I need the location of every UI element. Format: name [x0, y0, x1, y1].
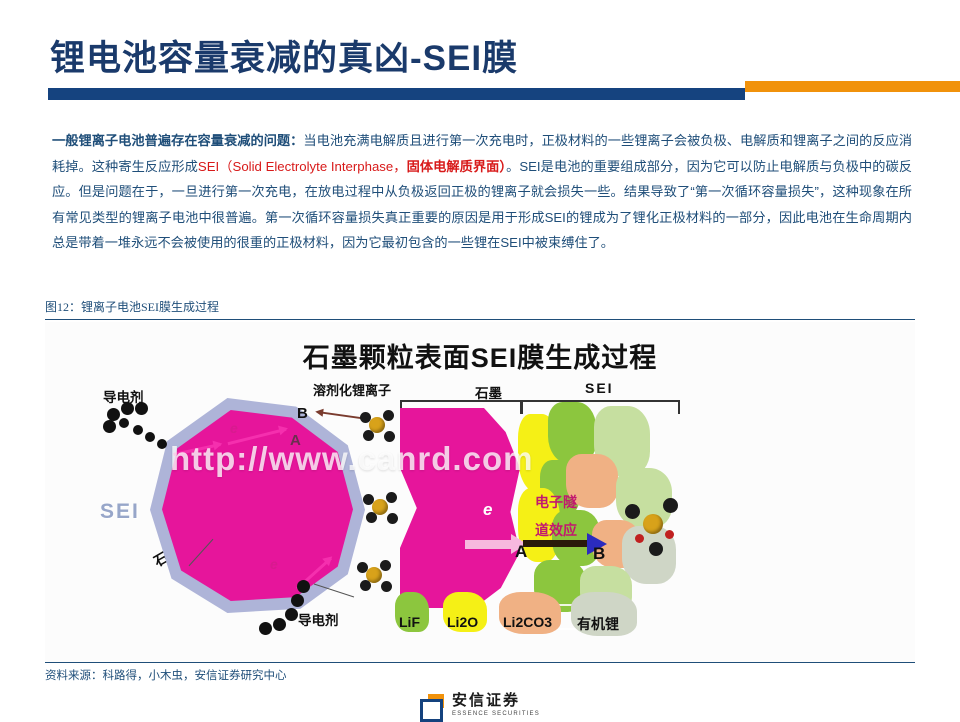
label-point-b-left: B — [297, 405, 308, 422]
conductive-dot — [291, 594, 304, 607]
conductive-dot — [121, 402, 134, 415]
conductive-dot — [103, 420, 116, 433]
figure-watermark: http://www.canrd.com — [170, 440, 533, 478]
page-title: 锂电池容量衰减的真凶-SEI膜 — [50, 30, 518, 81]
company-name-en: ESSENCE SECURITIES — [452, 711, 540, 717]
electron-transfer-arrow — [465, 540, 517, 549]
conductive-dot — [297, 580, 310, 593]
conductive-dot — [285, 608, 298, 621]
tunneling-arrow — [523, 540, 593, 547]
figure-image: 石墨颗粒表面SEI膜生成过程 溶剂化锂离子 石墨 SEI 导电剂 导电剂 SEI… — [45, 322, 915, 662]
figure-inner-title: 石墨颗粒表面SEI膜生成过程 — [45, 336, 915, 375]
legend-label-organic-li: 有机锂 — [577, 614, 619, 634]
body-paragraph: 一般锂离子电池普遍存在容量衰减的问题：当电池充满电解质且进行第一次充电时，正极材… — [52, 128, 912, 256]
label-sei-large: SEI — [100, 500, 140, 524]
solvated-li-molecule — [360, 408, 394, 442]
header-rule-orange — [745, 81, 960, 92]
company-name-cn: 安信证券 — [452, 693, 540, 708]
solvated-li-molecule — [357, 558, 391, 592]
label-tunnel-line1: 电子隧 — [535, 492, 577, 512]
slide-root: 锂电池容量衰减的真凶-SEI膜 一般锂离子电池普遍存在容量衰减的问题：当电池充满… — [0, 0, 960, 720]
legend-label-lif: LiF — [399, 614, 420, 630]
paragraph-highlight-chinese: 固体电解质界面） — [407, 159, 507, 174]
label-sei-top: SEI — [585, 380, 614, 396]
li-ion-arrow — [317, 411, 361, 419]
conductive-dot — [119, 418, 129, 428]
label-electron-3: e — [483, 500, 492, 520]
legend-label-li2co3: Li2CO3 — [503, 614, 552, 630]
footer-logo: 安信证券 ESSENCE SECURITIES — [0, 690, 960, 720]
product-molecule — [625, 498, 681, 554]
conductive-dot — [135, 402, 148, 415]
label-electron-1: e — [230, 420, 238, 436]
conductive-dot — [273, 618, 286, 631]
conductive-dot — [145, 432, 155, 442]
graphite-slab-shape — [400, 408, 520, 608]
label-point-a-right: A — [515, 542, 527, 562]
label-conductive-agent-bottom: 导电剂 — [298, 609, 339, 629]
company-logo-icon — [420, 694, 444, 716]
solvated-li-molecule — [363, 490, 397, 524]
source-note: 资料来源：科路得，小木虫，安信证券研究中心 — [45, 662, 915, 683]
header-rule-navy — [48, 88, 745, 100]
conductive-dot — [259, 622, 272, 635]
paragraph-highlight-english: SEI（Solid Electrolyte Interphase， — [198, 159, 407, 174]
paragraph-lead: 一般锂离子电池普遍存在容量衰减的问题： — [52, 133, 303, 148]
label-tunnel-line2: 道效应 — [535, 520, 577, 540]
label-solvated-li-ion: 溶剂化锂离子 — [313, 380, 391, 399]
label-electron-2: e — [270, 556, 278, 572]
legend-label-li2o: Li2O — [447, 614, 478, 630]
figure-legend: LiF Li2O Li2CO3 有机锂 — [395, 592, 695, 644]
figure-caption: 图12：锂离子电池SEI膜生成过程 — [45, 298, 915, 320]
conductive-dot — [133, 425, 143, 435]
conductive-dot — [157, 439, 167, 449]
label-graphite-top: 石墨 — [475, 382, 502, 402]
label-point-b-right: B — [593, 544, 605, 564]
